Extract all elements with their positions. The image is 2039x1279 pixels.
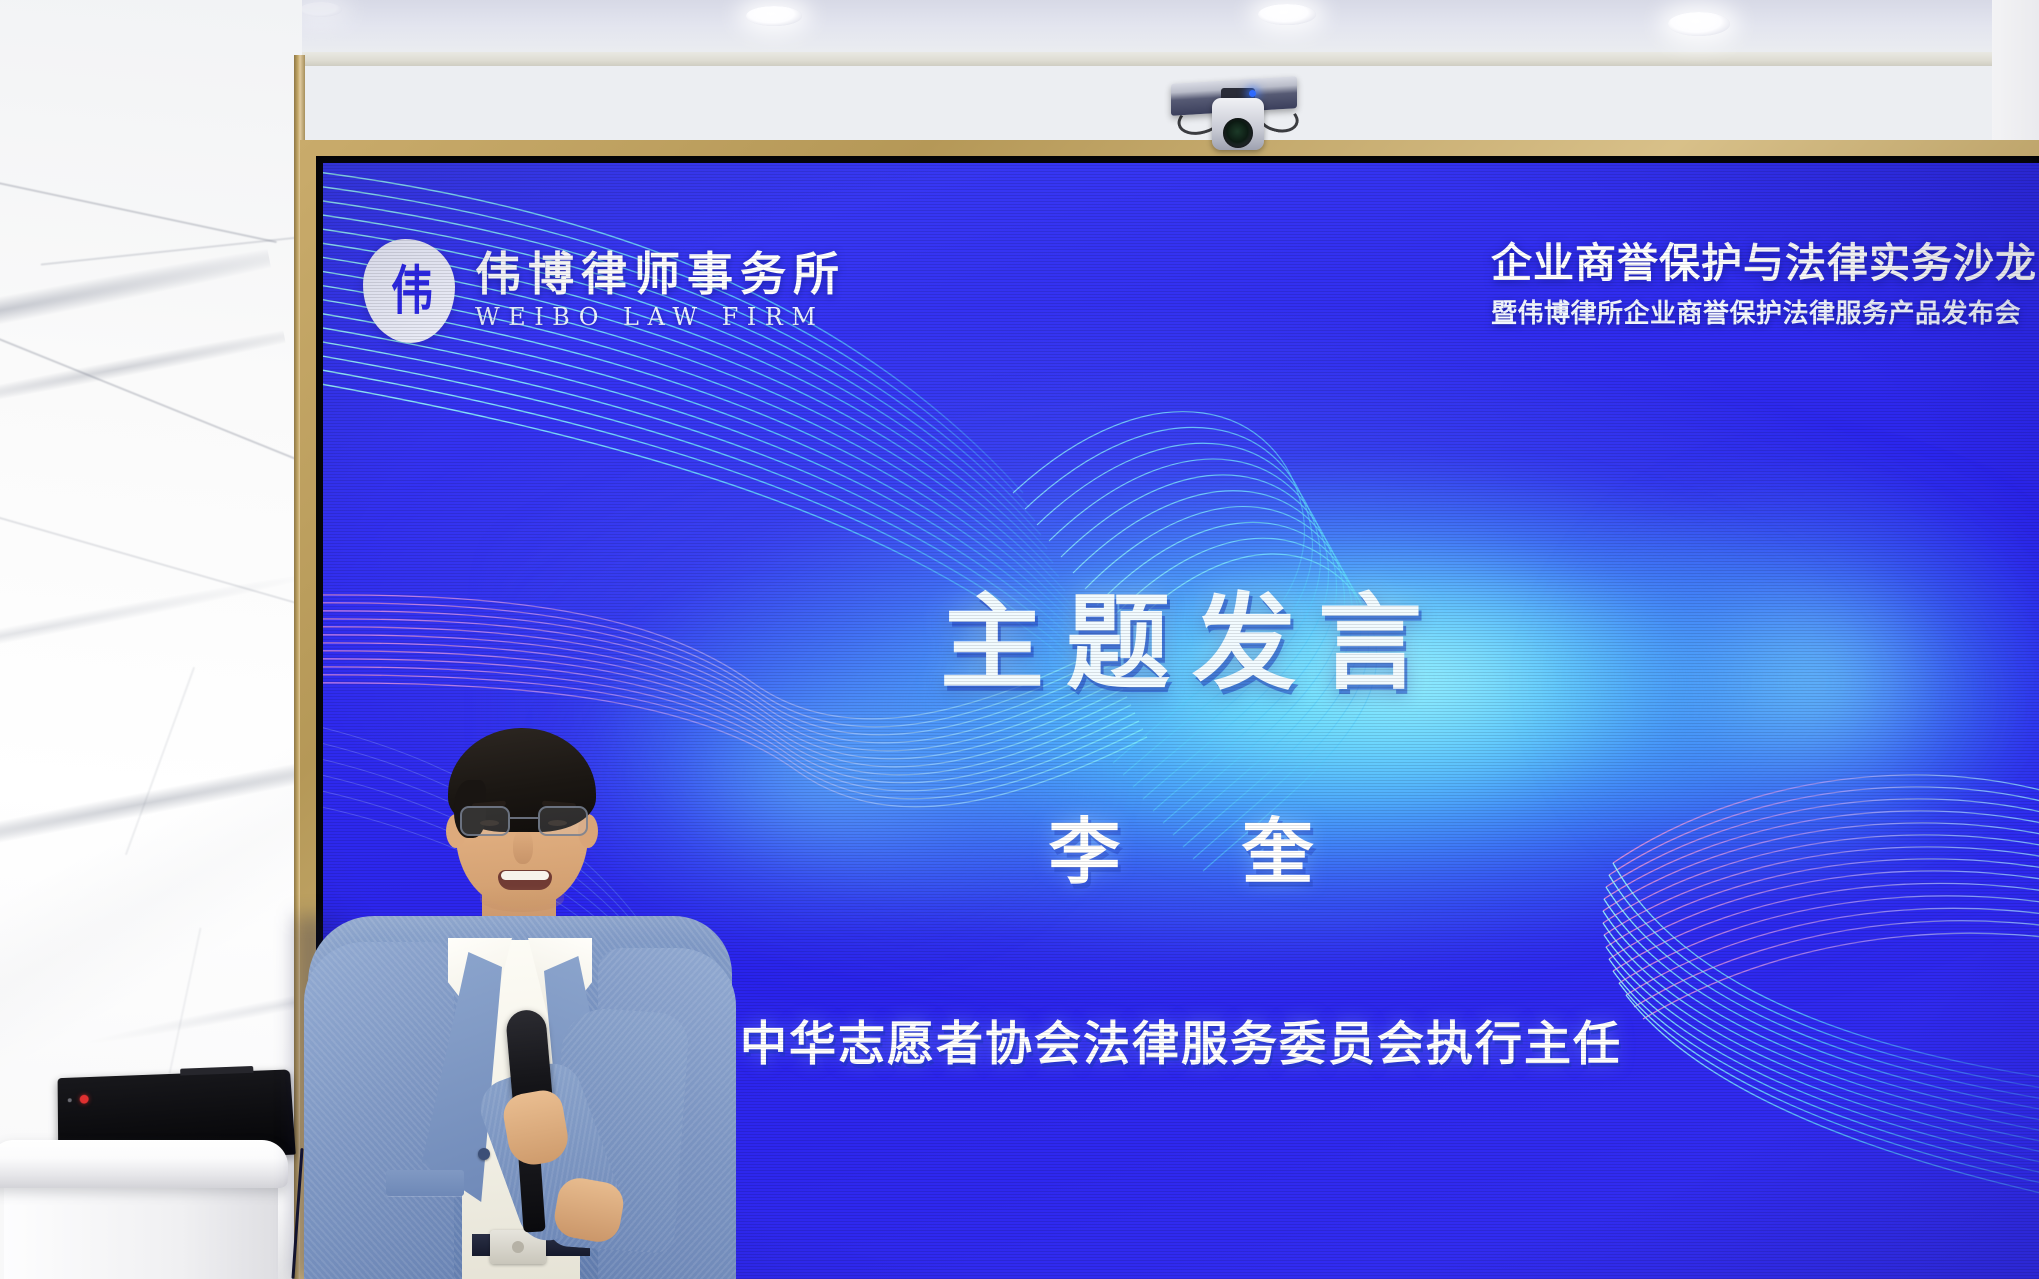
event-header: 企业商誉保护与法律实务沙龙 暨伟博律所企业商誉保护法律服务产品发布会 bbox=[1491, 241, 2039, 330]
glasses-bridge bbox=[510, 817, 538, 819]
laptop-logo-mark bbox=[68, 1098, 72, 1102]
video-camera-icon bbox=[1155, 68, 1315, 148]
laptop-logo-dot bbox=[80, 1095, 89, 1104]
firm-logo: 伟 伟博律师事务所 WEIBO LAW FIRM bbox=[363, 239, 846, 343]
ceiling-light-icon bbox=[300, 2, 342, 17]
slide-main-title: 主题发言 bbox=[323, 558, 2039, 709]
firm-name-en: WEIBO LAW FIRM bbox=[475, 303, 846, 331]
event-title: 企业商誉保护与法律实务沙龙 bbox=[1491, 241, 2039, 287]
seal-character: 伟 bbox=[391, 265, 427, 318]
camera-indicator-light bbox=[1249, 90, 1256, 97]
conference-stage-photo: 伟 伟博律师事务所 WEIBO LAW FIRM 企业商誉保护与法律实务沙龙 暨… bbox=[0, 0, 2039, 1279]
speaker-nose bbox=[513, 830, 533, 864]
lectern-front-panel bbox=[4, 1188, 256, 1279]
ceiling-light-icon bbox=[746, 6, 802, 26]
speaker-teeth bbox=[501, 871, 549, 880]
ceiling-light-icon bbox=[1258, 4, 1316, 25]
lectern-top-rail bbox=[0, 1140, 288, 1188]
firm-name-block: 伟博律师事务所 WEIBO LAW FIRM bbox=[475, 251, 846, 331]
speaker-jacket-pocket bbox=[386, 1170, 464, 1196]
presenting-speaker bbox=[330, 710, 710, 1279]
speaker-jacket-button bbox=[478, 1148, 490, 1160]
ceiling-edge-trim bbox=[0, 52, 2039, 66]
company-seal-icon: 伟 bbox=[363, 239, 455, 343]
ceiling-light-icon bbox=[1668, 12, 1730, 36]
event-subtitle: 暨伟博律所企业商誉保护法律服务产品发布会 bbox=[1491, 293, 2039, 330]
glasses-lens-right bbox=[538, 806, 588, 836]
speaker-shoulder-left bbox=[304, 942, 454, 1279]
speaker-chin bbox=[480, 886, 564, 912]
glasses-lens-left bbox=[460, 806, 510, 836]
camera-lens bbox=[1212, 98, 1264, 150]
firm-name-cn: 伟博律师事务所 bbox=[475, 251, 846, 299]
